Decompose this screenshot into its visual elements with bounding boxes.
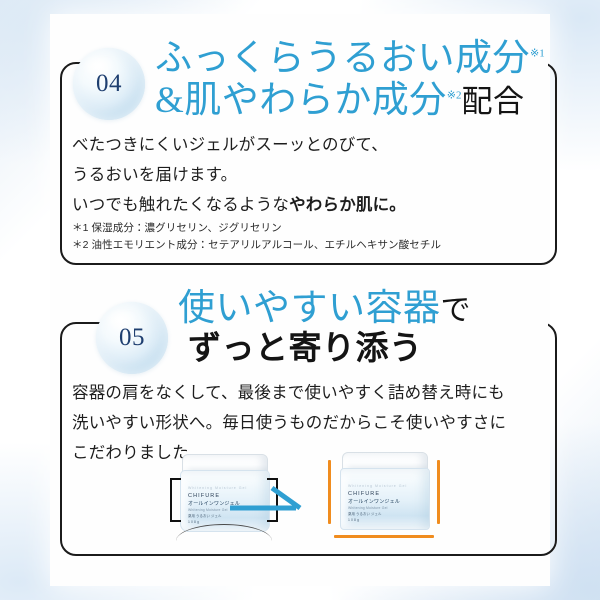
- footnote-2: ＊2 油性エモリエント成分：セテアリルアルコール、エチルヘキサン酸セチル: [72, 237, 542, 254]
- section-heading-04-line1: ふっくらうるおい成分※1: [155, 40, 545, 77]
- section-heading-05-line2: ずっと寄り添う: [188, 333, 423, 366]
- body-04-line-1: べたつきにくいジェルがスーッとのびて、: [72, 130, 542, 160]
- after-jar-marker-right: [437, 460, 440, 524]
- arrow-right-icon: [228, 484, 320, 518]
- body-04-line-2: うるおいを届けます。: [72, 160, 542, 190]
- body-05-line-2: 洗いやすい形状へ。毎日使うものだからこそ使いやすさに: [72, 408, 542, 438]
- section-number-05: 05: [119, 324, 145, 352]
- after-jar-label: Whitening Moisture Gel CHIFURE オールインワンジェ…: [348, 484, 422, 523]
- section-heading-05-line1: 使いやすい容器で: [178, 290, 471, 327]
- body-04-line-3-plain: いつでも触れたくなるような: [72, 196, 289, 214]
- heading-05-line1-text: 使いやすい容器: [178, 288, 441, 329]
- container-comparison: Whitening Moisture Gel CHIFURE オールインワンジェ…: [60, 452, 540, 547]
- footnote-1: ＊1 保湿成分：濃グリセリン、ジグリセリン: [72, 220, 542, 237]
- heading-04-line2-suffix: 配合: [462, 84, 525, 119]
- product-feature-page: 04 ふっくらうるおい成分※1 &肌やわらか成分※2配合 べたつきにくいジェルが…: [0, 0, 600, 600]
- section-body-04: べたつきにくいジェルがスーッとのびて、 うるおいを届けます。 いつでも触れたくな…: [72, 130, 542, 220]
- body-04-line-3: いつでも触れたくなるようなやわらか肌に。: [72, 190, 542, 220]
- section-number-04: 04: [96, 70, 122, 98]
- body-05-line-1: 容器の肩をなくして、最後まで使いやすく詰め替え時にも: [72, 378, 542, 408]
- after-label-volume: 1 0 8 g: [348, 518, 422, 524]
- after-label-brand: CHIFURE: [348, 490, 422, 498]
- after-label-product-jp: オールインワンジェル: [348, 498, 422, 506]
- heading-05-line1-suffix: で: [441, 294, 472, 327]
- transition-arrow: [228, 484, 320, 518]
- body-04-line-3-emphasis: やわらか肌に。: [289, 196, 406, 214]
- before-jar-marker-left: [170, 478, 181, 522]
- after-jar-marker-bottom: [334, 535, 434, 538]
- section-heading-04-line2: &肌やわらか成分※2配合: [155, 82, 525, 119]
- heading-04-line2-text: &肌やわらか成分: [155, 80, 447, 121]
- after-jar-marker-left: [328, 460, 331, 524]
- section-notes-04: ＊1 保湿成分：濃グリセリン、ジグリセリン ＊2 油性エモリエント成分：セテアリ…: [72, 220, 542, 254]
- heading-04-line1-text: ふっくらうるおい成分: [155, 38, 530, 79]
- heading-04-line2-footnote-marker: ※2: [447, 90, 462, 102]
- section-number-bubble-04: 04: [73, 48, 145, 120]
- after-jar: Whitening Moisture Gel CHIFURE オールインワンジェ…: [332, 450, 436, 536]
- section-number-bubble-05: 05: [96, 302, 168, 374]
- heading-04-line1-footnote-marker: ※1: [530, 48, 545, 60]
